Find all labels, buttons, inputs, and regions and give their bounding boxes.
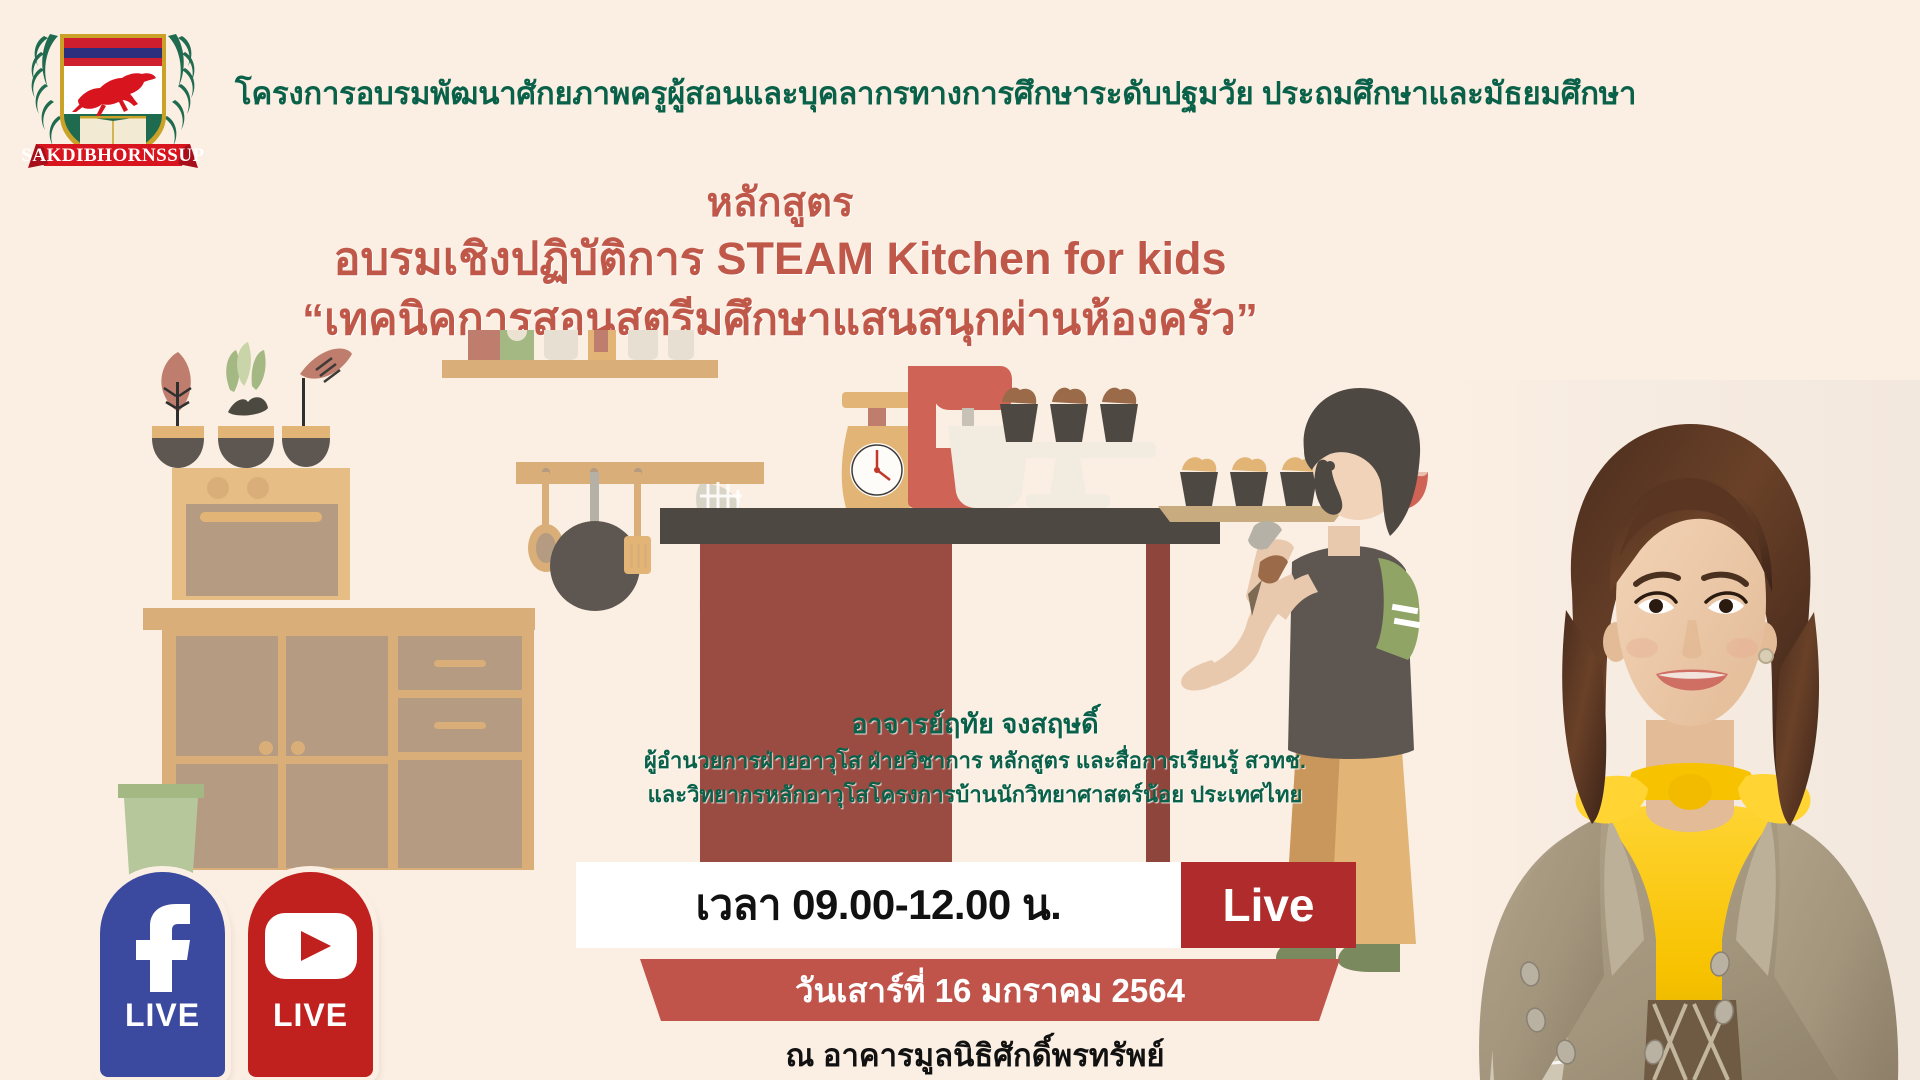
schedule-time-bar: เวลา 09.00-12.00 น. Live: [576, 862, 1356, 948]
live-label: Live: [1222, 878, 1314, 932]
facebook-live-badge[interactable]: LIVE: [100, 872, 225, 1077]
header-title: โครงการอบรมพัฒนาศักยภาพครูผู้สอนและบุคลา…: [235, 68, 1915, 118]
speaker-name: อาจารย์ฤทัย จงสฤษดิ์: [560, 705, 1390, 744]
logo-banner-text: SAKDIBHORNSSUP: [21, 145, 204, 166]
youtube-live-badge[interactable]: LIVE: [248, 872, 373, 1077]
youtube-live-label: LIVE: [273, 997, 348, 1034]
title-line-1: หลักสูตร: [0, 178, 1560, 228]
oven-icon: [172, 468, 350, 600]
lower-cabinets-icon: [162, 630, 534, 870]
speaker-role-line-1: ผู้อำนวยการฝ่ายอาวุโส ฝ่ายวิชาการ หลักสู…: [560, 744, 1390, 778]
facebook-live-label: LIVE: [125, 997, 200, 1034]
time-label: เวลา 09.00-12.00 น.: [696, 872, 1062, 938]
title-line-2: อบรมเชิงปฏิบัติการ STEAM Kitchen for kid…: [0, 230, 1560, 289]
counter-top: [143, 608, 535, 630]
venue-label: ณ อาคารมูลนิธิศักดิ์พรทรัพย์: [560, 1030, 1390, 1080]
speaker-block: อาจารย์ฤทัย จงสฤษดิ์ ผู้อำนวยการฝ่ายอาวุ…: [560, 705, 1390, 812]
date-label: วันเสาร์ที่ 16 มกราคม 2564: [795, 964, 1185, 1017]
kitchen-scale-icon: [842, 392, 915, 508]
potted-plants-icon: [152, 342, 352, 468]
youtube-play-icon: [263, 898, 359, 993]
live-badge-box: Live: [1181, 862, 1356, 948]
facebook-f-icon: [132, 898, 194, 993]
course-title-block: หลักสูตร อบรมเชิงปฏิบัติการ STEAM Kitche…: [0, 178, 1560, 348]
speaker-role-line-2: และวิทยากรหลักอาวุโสโครงการบ้านนักวิทยาศ…: [560, 778, 1390, 812]
poster-canvas: SAKDIBHORNSSUP โครงการอบรมพัฒนาศักยภาพคร…: [0, 0, 1920, 1080]
speaker-photo: [1450, 380, 1920, 1080]
time-label-box: เวลา 09.00-12.00 น.: [576, 862, 1181, 948]
work-table-icon: [660, 508, 1220, 880]
spice-shelf-icon: [442, 330, 718, 378]
sakdibhornssup-logo: SAKDIBHORNSSUP: [18, 8, 208, 188]
date-banner: วันเสาร์ที่ 16 มกราคม 2564: [640, 959, 1340, 1021]
